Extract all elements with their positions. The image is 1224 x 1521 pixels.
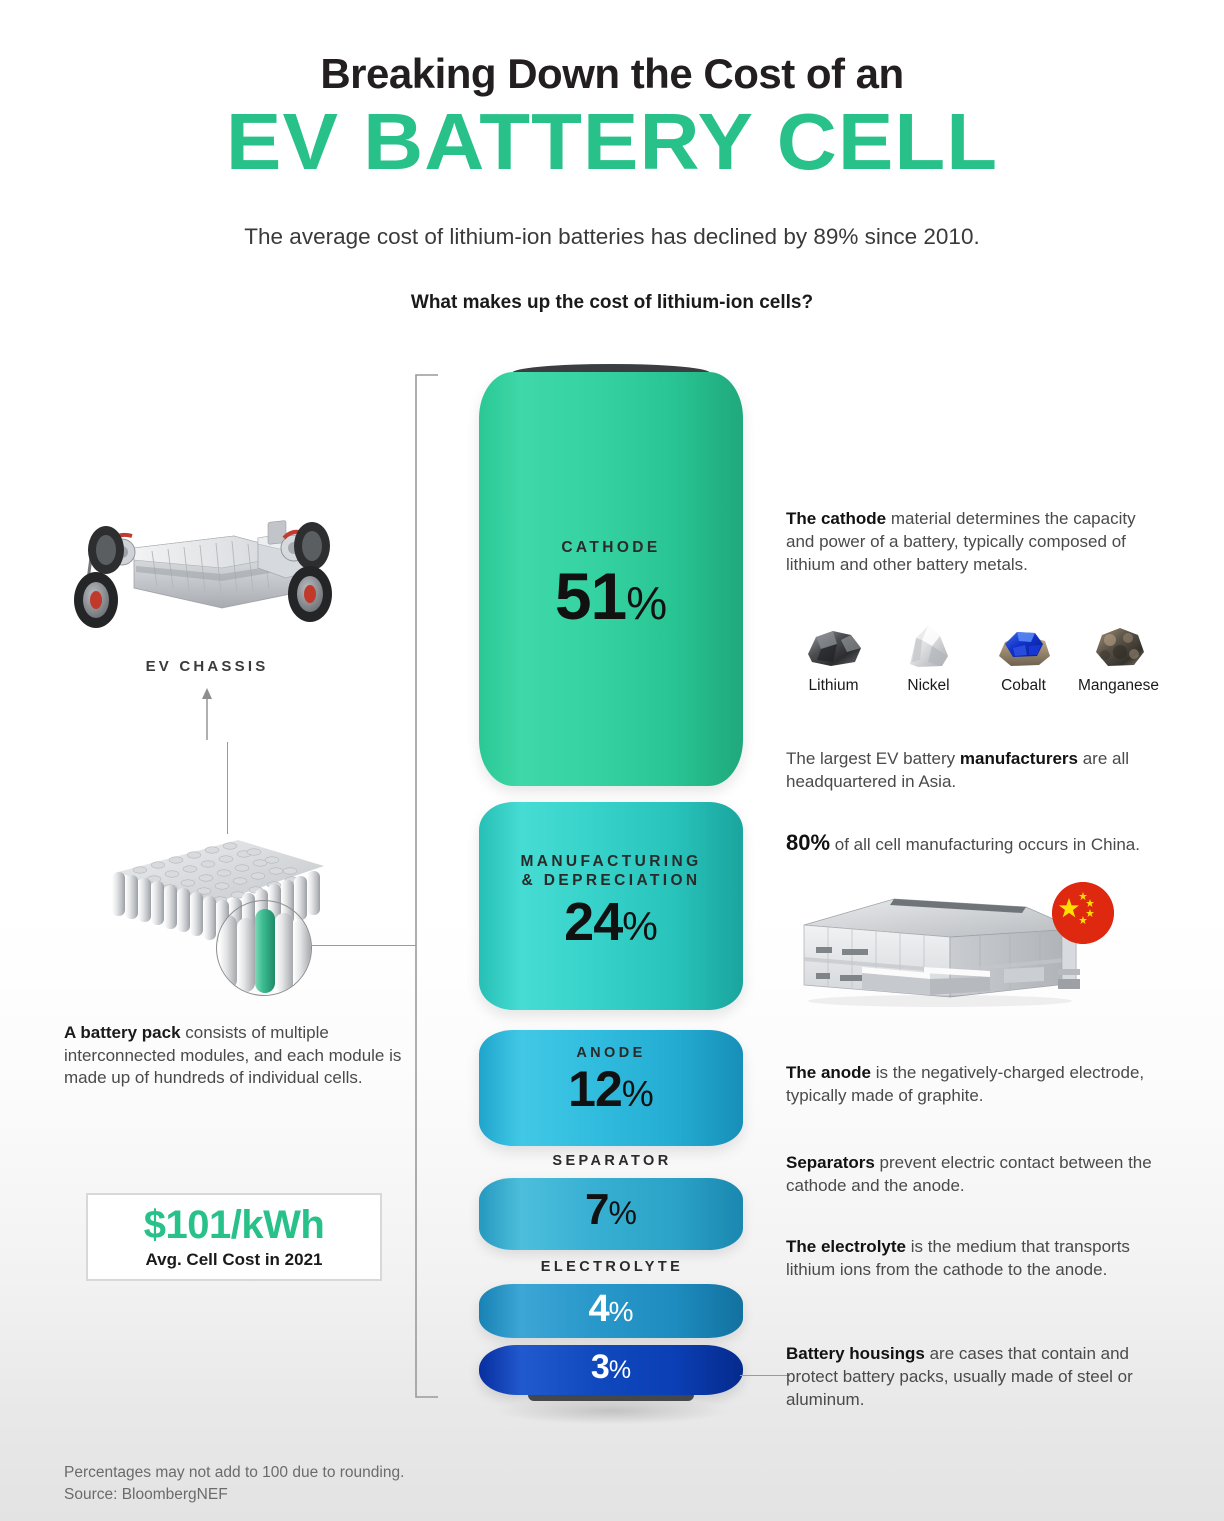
mineral-name: Cobalt: [976, 677, 1071, 695]
subtitle: The average cost of lithium-ion batterie…: [0, 224, 1224, 250]
segment-electrolyte-label-group: 4%: [479, 1290, 743, 1328]
segment-separator-name: SEPARATOR: [0, 1152, 1224, 1170]
cathode-description: The cathode material determines the capa…: [786, 508, 1166, 576]
segment-cathode-label-group: CATHODE 51%: [479, 538, 743, 629]
china-flag-icon: [1052, 882, 1114, 944]
segment-separator-percent-sign: %: [609, 1195, 637, 1231]
mineral-item: Nickel: [881, 622, 976, 695]
segment-electrolyte-value: 4%: [588, 1290, 633, 1328]
segment-anode-percent-sign: %: [622, 1073, 654, 1114]
segment-housing-percent-sign: %: [609, 1356, 631, 1384]
segment-electrolyte-name-wrap: ELECTROLYTE: [0, 1258, 1224, 1276]
segment-cathode[interactable]: CATHODE 51%: [479, 372, 743, 786]
stack-base-shadow: [498, 1398, 726, 1424]
mineral-name: Lithium: [786, 677, 881, 695]
cell-callout-magnifier: [216, 900, 312, 996]
segment-electrolyte[interactable]: 4%: [479, 1284, 743, 1338]
mineral-name: Manganese: [1071, 677, 1166, 695]
infographic-page: Breaking Down the Cost of an EV BATTERY …: [0, 0, 1224, 1521]
manganese-ore-icon: [1088, 622, 1150, 670]
segment-manufacturing-name-line1: MANUFACTURING: [479, 852, 743, 871]
battery-pack-description-bold: A battery pack: [64, 1023, 181, 1042]
china-share-rest: of all cell manufacturing occurs in Chin…: [830, 835, 1140, 854]
segment-separator[interactable]: 7%: [479, 1178, 743, 1250]
segment-cathode-percent-sign: %: [626, 577, 667, 629]
anode-description: The anode is the negatively-charged elec…: [786, 1062, 1166, 1108]
cobalt-ore-icon: [993, 622, 1055, 670]
mineral-item: Lithium: [786, 622, 881, 695]
section-question: What makes up the cost of lithium-ion ce…: [0, 292, 1224, 314]
segment-manufacturing-value: 24%: [564, 895, 658, 949]
segment-separator-value: 7%: [585, 1188, 637, 1232]
segment-electrolyte-percent-sign: %: [609, 1296, 634, 1327]
lithium-ore-icon: [803, 622, 865, 670]
segment-manufacturing-label-group: MANUFACTURING & DEPRECIATION 24%: [479, 852, 743, 949]
callout-connector-line: [312, 945, 416, 946]
manufacturers-description: The largest EV battery manufacturers are…: [786, 748, 1166, 794]
housing-description: Battery housings are cases that contain …: [786, 1343, 1166, 1411]
segment-manufacturing-number: 24: [564, 892, 622, 952]
battery-pack-description: A battery pack consists of multiple inte…: [64, 1022, 404, 1090]
header: Breaking Down the Cost of an EV BATTERY …: [0, 0, 1224, 314]
segment-electrolyte-name: ELECTROLYTE: [0, 1258, 1224, 1276]
cathode-description-bold: The cathode: [786, 509, 886, 528]
segment-anode-number: 12: [568, 1061, 622, 1117]
segment-manufacturing[interactable]: MANUFACTURING & DEPRECIATION 24%: [479, 802, 743, 1010]
pack-connector-line-vertical: [227, 742, 228, 834]
segment-anode-value: 12%: [568, 1064, 654, 1114]
mineral-item: Manganese: [1071, 622, 1166, 695]
segment-anode-name: ANODE: [479, 1044, 743, 1062]
segment-housing[interactable]: 3%: [479, 1345, 743, 1395]
segment-electrolyte-number: 4: [588, 1288, 608, 1330]
segment-manufacturing-percent-sign: %: [622, 905, 658, 949]
nickel-ore-icon: [898, 622, 960, 670]
mineral-item: Cobalt: [976, 622, 1071, 695]
segment-separator-number: 7: [585, 1185, 608, 1234]
housing-description-bold: Battery housings: [786, 1344, 925, 1363]
ev-chassis-illustration: [62, 508, 352, 643]
ev-chassis-label: EV CHASSIS: [62, 658, 352, 675]
manufacturers-bold: manufacturers: [960, 749, 1078, 768]
cell-bracket: [414, 374, 438, 1398]
manufacturers-pre: The largest EV battery: [786, 749, 960, 768]
footer-note-rounding: Percentages may not add to 100 due to ro…: [64, 1462, 404, 1484]
segment-cathode-name: CATHODE: [479, 538, 743, 557]
segment-cathode-value: 51%: [555, 563, 667, 629]
segment-anode[interactable]: ANODE 12%: [479, 1030, 743, 1146]
segment-separator-label-group: 7%: [479, 1188, 743, 1232]
upward-arrow-icon: [205, 688, 209, 740]
segment-cathode-number: 51: [555, 559, 626, 633]
segment-housing-number: 3: [591, 1348, 609, 1386]
footer-notes: Percentages may not add to 100 due to ro…: [64, 1462, 404, 1506]
segment-housing-label-group: 3%: [479, 1350, 743, 1384]
segment-manufacturing-name-line2: & DEPRECIATION: [479, 871, 743, 890]
anode-description-bold: The anode: [786, 1063, 871, 1082]
segment-separator-name-wrap: SEPARATOR: [0, 1152, 1224, 1170]
housing-leader-line: [740, 1375, 790, 1376]
china-share-value: 80%: [786, 830, 830, 855]
avg-cell-cost-value: $101/kWh: [144, 1205, 325, 1245]
mineral-name: Nickel: [881, 677, 976, 695]
page-title-line2: EV BATTERY CELL: [0, 102, 1224, 182]
segment-housing-value: 3%: [591, 1350, 631, 1384]
page-title-line1: Breaking Down the Cost of an: [0, 52, 1224, 96]
cathode-minerals-row: Lithium Nickel: [786, 622, 1166, 695]
segment-anode-label-group: ANODE 12%: [479, 1044, 743, 1114]
china-share-description: 80% of all cell manufacturing occurs in …: [786, 828, 1166, 857]
footer-source: Source: BloombergNEF: [64, 1484, 404, 1506]
electrolyte-description-bold: The electrolyte: [786, 1237, 906, 1256]
